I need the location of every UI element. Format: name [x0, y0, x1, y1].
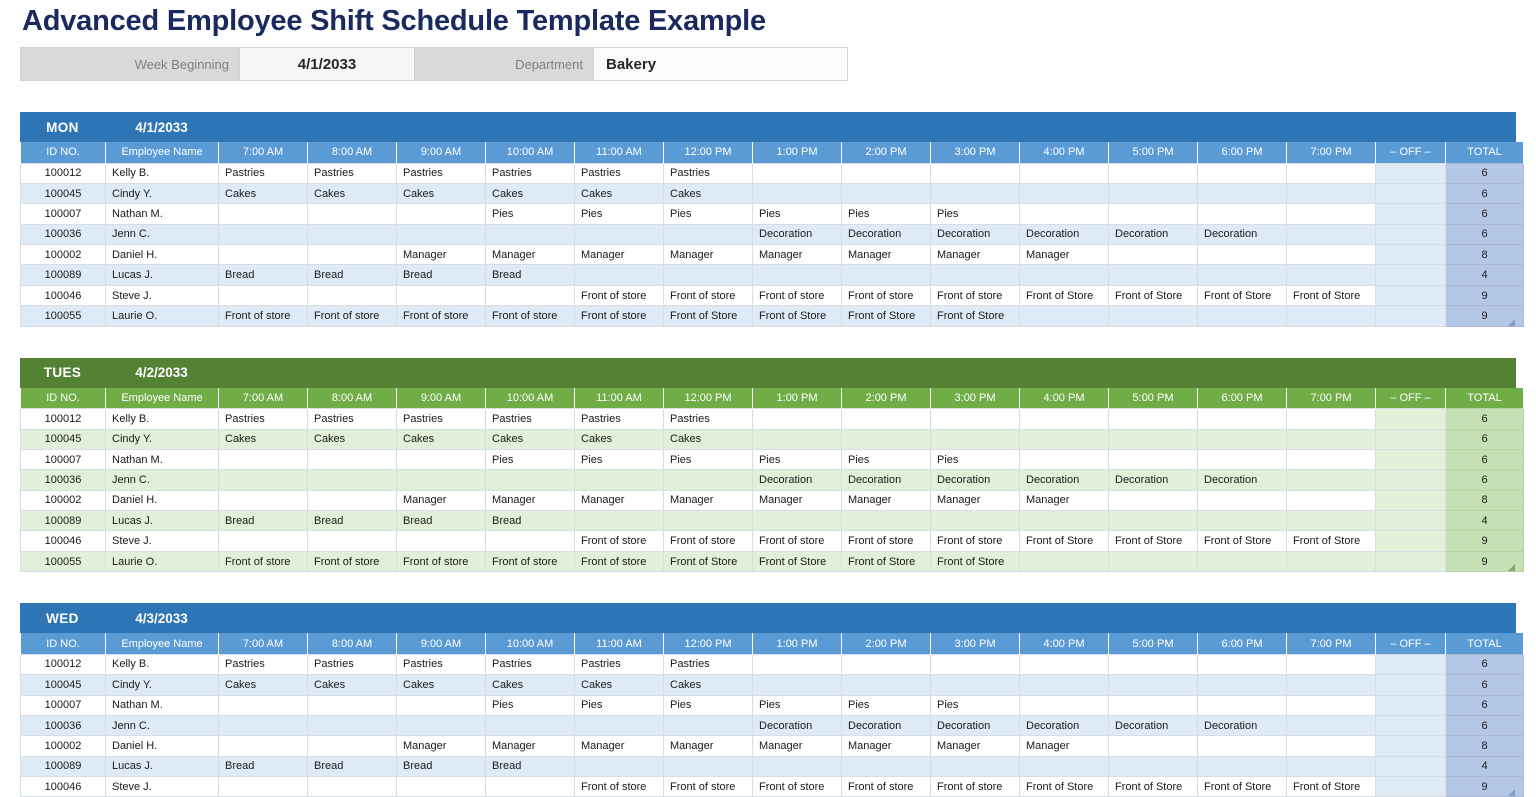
column-header-5[interactable]: 10:00 AM	[486, 388, 575, 409]
cell-shift[interactable]	[1109, 163, 1198, 183]
cell-off[interactable]	[1376, 736, 1446, 756]
column-header-8[interactable]: 1:00 PM	[753, 142, 842, 163]
cell-off[interactable]	[1376, 265, 1446, 285]
cell-shift[interactable]: Manager	[1020, 736, 1109, 756]
column-header-16[interactable]: TOTAL	[1446, 142, 1524, 163]
cell-employee-id[interactable]: 100036	[21, 224, 106, 244]
cell-shift[interactable]: Manager	[664, 245, 753, 265]
cell-shift[interactable]: Pies	[842, 204, 931, 224]
column-header-13[interactable]: 6:00 PM	[1198, 633, 1287, 654]
cell-shift[interactable]: Decoration	[931, 715, 1020, 735]
cell-shift[interactable]: Bread	[486, 756, 575, 776]
cell-shift[interactable]: Pies	[575, 695, 664, 715]
cell-shift[interactable]	[753, 511, 842, 531]
cell-employee-id[interactable]: 100045	[21, 675, 106, 695]
cell-shift[interactable]	[753, 183, 842, 203]
cell-shift[interactable]	[308, 695, 397, 715]
cell-off[interactable]	[1376, 224, 1446, 244]
cell-shift[interactable]	[664, 715, 753, 735]
cell-shift[interactable]: Cakes	[575, 429, 664, 449]
cell-shift[interactable]	[931, 756, 1020, 776]
column-header-5[interactable]: 10:00 AM	[486, 633, 575, 654]
cell-shift[interactable]: Front of Store	[1198, 777, 1287, 797]
week-beginning-value[interactable]: 4/1/2033	[239, 48, 415, 80]
column-header-7[interactable]: 12:00 PM	[664, 633, 753, 654]
cell-shift[interactable]: Pastries	[575, 409, 664, 429]
cell-shift[interactable]: Decoration	[1198, 224, 1287, 244]
cell-shift[interactable]	[842, 183, 931, 203]
cell-shift[interactable]: Cakes	[664, 675, 753, 695]
cell-shift[interactable]	[219, 449, 308, 469]
cell-shift[interactable]: Pies	[664, 204, 753, 224]
cell-shift[interactable]: Front of Store	[842, 306, 931, 326]
cell-shift[interactable]: Front of Store	[664, 551, 753, 571]
cell-shift[interactable]	[753, 756, 842, 776]
column-header-16[interactable]: TOTAL	[1446, 633, 1524, 654]
cell-shift[interactable]	[308, 224, 397, 244]
cell-shift[interactable]	[1109, 675, 1198, 695]
cell-off[interactable]	[1376, 756, 1446, 776]
cell-shift[interactable]	[1198, 204, 1287, 224]
cell-shift[interactable]	[1287, 511, 1376, 531]
column-header-11[interactable]: 4:00 PM	[1020, 633, 1109, 654]
cell-shift[interactable]: Cakes	[308, 429, 397, 449]
cell-shift[interactable]	[1287, 695, 1376, 715]
cell-employee-name[interactable]: Lucas J.	[106, 265, 219, 285]
cell-employee-id[interactable]: 100046	[21, 531, 106, 551]
cell-shift[interactable]: Front of Store	[931, 551, 1020, 571]
cell-shift[interactable]	[1109, 695, 1198, 715]
column-header-2[interactable]: 7:00 AM	[219, 388, 308, 409]
cell-shift[interactable]: Cakes	[219, 675, 308, 695]
department-value[interactable]: Bakery	[593, 48, 847, 80]
cell-shift[interactable]: Front of Store	[753, 551, 842, 571]
cell-shift[interactable]: Front of store	[753, 777, 842, 797]
cell-shift[interactable]	[1198, 265, 1287, 285]
cell-shift[interactable]: Pies	[842, 449, 931, 469]
cell-shift[interactable]: Decoration	[1020, 224, 1109, 244]
cell-shift[interactable]	[575, 265, 664, 285]
column-header-4[interactable]: 9:00 AM	[397, 142, 486, 163]
column-header-3[interactable]: 8:00 AM	[308, 388, 397, 409]
cell-shift[interactable]: Manager	[842, 490, 931, 510]
cell-shift[interactable]	[931, 429, 1020, 449]
cell-shift[interactable]: Manager	[575, 245, 664, 265]
cell-off[interactable]	[1376, 449, 1446, 469]
cell-shift[interactable]	[1287, 715, 1376, 735]
cell-shift[interactable]: Bread	[397, 511, 486, 531]
cell-shift[interactable]	[486, 715, 575, 735]
cell-shift[interactable]: Pies	[486, 449, 575, 469]
cell-employee-name[interactable]: Jenn C.	[106, 470, 219, 490]
cell-employee-name[interactable]: Kelly B.	[106, 163, 219, 183]
cell-shift[interactable]: Decoration	[842, 715, 931, 735]
cell-shift[interactable]	[1287, 449, 1376, 469]
cell-shift[interactable]: Bread	[308, 265, 397, 285]
resize-handle-icon[interactable]	[1506, 317, 1515, 326]
cell-employee-id[interactable]: 100002	[21, 736, 106, 756]
cell-shift[interactable]	[1287, 736, 1376, 756]
cell-shift[interactable]	[219, 490, 308, 510]
column-header-14[interactable]: 7:00 PM	[1287, 388, 1376, 409]
cell-shift[interactable]: Front of Store	[1020, 531, 1109, 551]
cell-employee-id[interactable]: 100007	[21, 695, 106, 715]
cell-shift[interactable]	[1198, 654, 1287, 674]
cell-shift[interactable]: Front of Store	[842, 551, 931, 571]
cell-employee-id[interactable]: 100002	[21, 490, 106, 510]
cell-shift[interactable]: Manager	[397, 490, 486, 510]
cell-shift[interactable]: Manager	[397, 245, 486, 265]
cell-shift[interactable]: Front of store	[931, 531, 1020, 551]
cell-shift[interactable]	[753, 163, 842, 183]
cell-shift[interactable]	[397, 470, 486, 490]
cell-shift[interactable]	[753, 429, 842, 449]
cell-shift[interactable]	[575, 715, 664, 735]
cell-shift[interactable]: Manager	[842, 736, 931, 756]
column-header-12[interactable]: 5:00 PM	[1109, 388, 1198, 409]
cell-shift[interactable]: Pies	[931, 204, 1020, 224]
cell-shift[interactable]	[1287, 551, 1376, 571]
cell-shift[interactable]: Manager	[486, 736, 575, 756]
cell-shift[interactable]	[1198, 736, 1287, 756]
cell-shift[interactable]	[219, 204, 308, 224]
cell-shift[interactable]	[1109, 449, 1198, 469]
cell-shift[interactable]: Decoration	[842, 470, 931, 490]
cell-employee-id[interactable]: 100045	[21, 429, 106, 449]
column-header-10[interactable]: 3:00 PM	[931, 388, 1020, 409]
cell-shift[interactable]	[931, 654, 1020, 674]
cell-shift[interactable]	[219, 285, 308, 305]
cell-shift[interactable]: Pastries	[397, 409, 486, 429]
cell-shift[interactable]: Front of store	[842, 531, 931, 551]
cell-shift[interactable]	[1287, 409, 1376, 429]
cell-shift[interactable]: Cakes	[308, 675, 397, 695]
cell-shift[interactable]: Manager	[753, 245, 842, 265]
column-header-9[interactable]: 2:00 PM	[842, 633, 931, 654]
cell-shift[interactable]	[397, 285, 486, 305]
cell-shift[interactable]: Front of Store	[1198, 285, 1287, 305]
cell-shift[interactable]	[1020, 654, 1109, 674]
cell-shift[interactable]	[931, 409, 1020, 429]
cell-off[interactable]	[1376, 531, 1446, 551]
cell-shift[interactable]	[1287, 163, 1376, 183]
cell-employee-id[interactable]: 100046	[21, 777, 106, 797]
column-header-15[interactable]: – OFF –	[1376, 142, 1446, 163]
cell-employee-name[interactable]: Cindy Y.	[106, 675, 219, 695]
cell-shift[interactable]	[219, 531, 308, 551]
column-header-8[interactable]: 1:00 PM	[753, 633, 842, 654]
cell-shift[interactable]: Front of Store	[931, 306, 1020, 326]
cell-shift[interactable]	[575, 756, 664, 776]
cell-shift[interactable]	[842, 654, 931, 674]
cell-shift[interactable]	[1198, 551, 1287, 571]
column-header-12[interactable]: 5:00 PM	[1109, 142, 1198, 163]
column-header-6[interactable]: 11:00 AM	[575, 388, 664, 409]
cell-shift[interactable]	[1020, 449, 1109, 469]
cell-shift[interactable]	[1198, 163, 1287, 183]
cell-employee-id[interactable]: 100089	[21, 265, 106, 285]
cell-shift[interactable]: Pastries	[219, 163, 308, 183]
cell-shift[interactable]: Cakes	[397, 429, 486, 449]
cell-shift[interactable]	[1109, 551, 1198, 571]
cell-employee-id[interactable]: 100036	[21, 470, 106, 490]
cell-employee-name[interactable]: Daniel H.	[106, 736, 219, 756]
cell-shift[interactable]	[664, 470, 753, 490]
cell-shift[interactable]	[1109, 654, 1198, 674]
cell-shift[interactable]	[1198, 245, 1287, 265]
column-header-7[interactable]: 12:00 PM	[664, 388, 753, 409]
cell-employee-id[interactable]: 100002	[21, 245, 106, 265]
cell-shift[interactable]: Cakes	[486, 429, 575, 449]
cell-shift[interactable]: Front of store	[219, 306, 308, 326]
cell-shift[interactable]: Front of store	[575, 551, 664, 571]
cell-shift[interactable]: Cakes	[575, 675, 664, 695]
cell-off[interactable]	[1376, 245, 1446, 265]
cell-employee-name[interactable]: Nathan M.	[106, 204, 219, 224]
cell-shift[interactable]	[931, 163, 1020, 183]
cell-shift[interactable]	[1020, 511, 1109, 531]
cell-shift[interactable]: Front of store	[486, 551, 575, 571]
cell-shift[interactable]: Manager	[931, 245, 1020, 265]
cell-shift[interactable]: Front of store	[753, 285, 842, 305]
column-header-0[interactable]: ID NO.	[21, 388, 106, 409]
cell-shift[interactable]: Front of store	[842, 777, 931, 797]
cell-employee-name[interactable]: Kelly B.	[106, 409, 219, 429]
cell-shift[interactable]: Front of store	[575, 777, 664, 797]
cell-shift[interactable]	[1020, 204, 1109, 224]
cell-shift[interactable]: Decoration	[842, 224, 931, 244]
cell-shift[interactable]	[486, 224, 575, 244]
cell-shift[interactable]	[575, 224, 664, 244]
cell-employee-id[interactable]: 100007	[21, 449, 106, 469]
column-header-13[interactable]: 6:00 PM	[1198, 142, 1287, 163]
cell-off[interactable]	[1376, 551, 1446, 571]
cell-shift[interactable]: Front of Store	[664, 306, 753, 326]
column-header-1[interactable]: Employee Name	[106, 633, 219, 654]
cell-shift[interactable]: Front of store	[397, 306, 486, 326]
cell-shift[interactable]: Cakes	[486, 183, 575, 203]
cell-shift[interactable]	[308, 490, 397, 510]
column-header-3[interactable]: 8:00 AM	[308, 142, 397, 163]
cell-shift[interactable]	[308, 777, 397, 797]
cell-off[interactable]	[1376, 306, 1446, 326]
cell-off[interactable]	[1376, 429, 1446, 449]
cell-shift[interactable]: Bread	[486, 265, 575, 285]
cell-employee-id[interactable]: 100012	[21, 163, 106, 183]
cell-shift[interactable]: Decoration	[753, 470, 842, 490]
cell-shift[interactable]: Front of Store	[1287, 777, 1376, 797]
cell-employee-name[interactable]: Daniel H.	[106, 490, 219, 510]
cell-shift[interactable]	[1287, 470, 1376, 490]
cell-shift[interactable]: Pies	[575, 449, 664, 469]
column-header-14[interactable]: 7:00 PM	[1287, 142, 1376, 163]
cell-off[interactable]	[1376, 409, 1446, 429]
cell-employee-name[interactable]: Kelly B.	[106, 654, 219, 674]
cell-shift[interactable]	[1020, 695, 1109, 715]
cell-shift[interactable]	[575, 470, 664, 490]
cell-shift[interactable]	[308, 245, 397, 265]
cell-shift[interactable]	[931, 675, 1020, 695]
cell-shift[interactable]: Bread	[219, 511, 308, 531]
cell-shift[interactable]	[753, 654, 842, 674]
cell-off[interactable]	[1376, 695, 1446, 715]
cell-shift[interactable]: Cakes	[219, 429, 308, 449]
column-header-0[interactable]: ID NO.	[21, 142, 106, 163]
cell-shift[interactable]	[1287, 756, 1376, 776]
cell-shift[interactable]	[1109, 756, 1198, 776]
cell-shift[interactable]: Front of Store	[1287, 285, 1376, 305]
cell-shift[interactable]: Front of store	[575, 285, 664, 305]
cell-shift[interactable]: Decoration	[1198, 715, 1287, 735]
cell-shift[interactable]: Pastries	[664, 654, 753, 674]
cell-shift[interactable]: Pastries	[219, 654, 308, 674]
column-header-1[interactable]: Employee Name	[106, 142, 219, 163]
resize-handle-icon[interactable]	[1506, 787, 1515, 796]
cell-shift[interactable]: Manager	[931, 490, 1020, 510]
cell-shift[interactable]	[842, 675, 931, 695]
cell-shift[interactable]: Cakes	[486, 675, 575, 695]
cell-shift[interactable]: Manager	[931, 736, 1020, 756]
cell-shift[interactable]: Pastries	[575, 163, 664, 183]
cell-shift[interactable]: Front of store	[486, 306, 575, 326]
cell-shift[interactable]	[308, 715, 397, 735]
cell-shift[interactable]: Pies	[842, 695, 931, 715]
cell-shift[interactable]: Decoration	[931, 470, 1020, 490]
cell-shift[interactable]	[308, 204, 397, 224]
cell-shift[interactable]: Front of store	[842, 285, 931, 305]
cell-shift[interactable]	[931, 511, 1020, 531]
column-header-10[interactable]: 3:00 PM	[931, 142, 1020, 163]
cell-shift[interactable]	[308, 449, 397, 469]
cell-employee-id[interactable]: 100012	[21, 654, 106, 674]
cell-employee-name[interactable]: Steve J.	[106, 285, 219, 305]
cell-shift[interactable]	[1109, 306, 1198, 326]
column-header-5[interactable]: 10:00 AM	[486, 142, 575, 163]
cell-employee-name[interactable]: Lucas J.	[106, 756, 219, 776]
cell-shift[interactable]	[842, 511, 931, 531]
cell-shift[interactable]	[1198, 183, 1287, 203]
cell-shift[interactable]: Manager	[753, 490, 842, 510]
cell-shift[interactable]: Pastries	[664, 409, 753, 429]
cell-shift[interactable]	[1109, 429, 1198, 449]
cell-shift[interactable]: Bread	[486, 511, 575, 531]
column-header-11[interactable]: 4:00 PM	[1020, 142, 1109, 163]
cell-shift[interactable]	[1020, 429, 1109, 449]
cell-shift[interactable]	[1198, 429, 1287, 449]
cell-shift[interactable]: Cakes	[308, 183, 397, 203]
cell-shift[interactable]	[1287, 245, 1376, 265]
cell-off[interactable]	[1376, 675, 1446, 695]
cell-shift[interactable]: Manager	[397, 736, 486, 756]
cell-employee-id[interactable]: 100055	[21, 306, 106, 326]
cell-employee-name[interactable]: Nathan M.	[106, 449, 219, 469]
cell-shift[interactable]: Decoration	[753, 715, 842, 735]
cell-employee-id[interactable]: 100012	[21, 409, 106, 429]
cell-shift[interactable]: Bread	[219, 265, 308, 285]
cell-shift[interactable]	[842, 756, 931, 776]
cell-shift[interactable]: Bread	[219, 756, 308, 776]
cell-shift[interactable]	[1287, 224, 1376, 244]
cell-shift[interactable]: Cakes	[664, 429, 753, 449]
cell-shift[interactable]	[1109, 736, 1198, 756]
cell-shift[interactable]: Pies	[664, 695, 753, 715]
column-header-4[interactable]: 9:00 AM	[397, 633, 486, 654]
cell-shift[interactable]	[1020, 163, 1109, 183]
column-header-4[interactable]: 9:00 AM	[397, 388, 486, 409]
cell-employee-id[interactable]: 100089	[21, 511, 106, 531]
cell-off[interactable]	[1376, 470, 1446, 490]
column-header-0[interactable]: ID NO.	[21, 633, 106, 654]
column-header-9[interactable]: 2:00 PM	[842, 142, 931, 163]
column-header-11[interactable]: 4:00 PM	[1020, 388, 1109, 409]
cell-shift[interactable]	[308, 285, 397, 305]
cell-shift[interactable]	[397, 715, 486, 735]
cell-shift[interactable]: Manager	[664, 490, 753, 510]
cell-shift[interactable]	[219, 695, 308, 715]
cell-shift[interactable]	[664, 756, 753, 776]
cell-shift[interactable]	[219, 224, 308, 244]
cell-shift[interactable]	[1198, 306, 1287, 326]
cell-shift[interactable]: Manager	[1020, 490, 1109, 510]
cell-shift[interactable]	[1109, 204, 1198, 224]
cell-shift[interactable]: Pies	[931, 695, 1020, 715]
cell-off[interactable]	[1376, 777, 1446, 797]
cell-employee-id[interactable]: 100046	[21, 285, 106, 305]
cell-shift[interactable]	[1198, 409, 1287, 429]
cell-shift[interactable]	[397, 531, 486, 551]
cell-shift[interactable]: Front of store	[219, 551, 308, 571]
cell-shift[interactable]: Front of store	[575, 306, 664, 326]
cell-shift[interactable]: Manager	[486, 490, 575, 510]
cell-shift[interactable]	[486, 531, 575, 551]
column-header-6[interactable]: 11:00 AM	[575, 633, 664, 654]
cell-shift[interactable]: Pies	[486, 695, 575, 715]
cell-shift[interactable]: Pastries	[219, 409, 308, 429]
cell-shift[interactable]	[753, 675, 842, 695]
column-header-15[interactable]: – OFF –	[1376, 388, 1446, 409]
column-header-2[interactable]: 7:00 AM	[219, 142, 308, 163]
cell-shift[interactable]: Front of store	[308, 551, 397, 571]
cell-shift[interactable]	[1020, 306, 1109, 326]
column-header-7[interactable]: 12:00 PM	[664, 142, 753, 163]
cell-off[interactable]	[1376, 511, 1446, 531]
cell-shift[interactable]: Front of store	[664, 777, 753, 797]
cell-shift[interactable]: Decoration	[1198, 470, 1287, 490]
cell-shift[interactable]	[664, 224, 753, 244]
cell-shift[interactable]: Front of Store	[1198, 531, 1287, 551]
cell-shift[interactable]: Front of Store	[1287, 531, 1376, 551]
cell-employee-name[interactable]: Lucas J.	[106, 511, 219, 531]
cell-shift[interactable]	[219, 245, 308, 265]
cell-off[interactable]	[1376, 715, 1446, 735]
cell-employee-id[interactable]: 100045	[21, 183, 106, 203]
cell-shift[interactable]	[308, 736, 397, 756]
cell-shift[interactable]: Decoration	[1109, 224, 1198, 244]
cell-employee-id[interactable]: 100089	[21, 756, 106, 776]
cell-shift[interactable]	[1109, 511, 1198, 531]
resize-handle-icon[interactable]	[1506, 562, 1515, 571]
cell-shift[interactable]	[931, 183, 1020, 203]
cell-shift[interactable]	[1109, 265, 1198, 285]
column-header-1[interactable]: Employee Name	[106, 388, 219, 409]
cell-shift[interactable]: Front of store	[308, 306, 397, 326]
cell-shift[interactable]	[1287, 204, 1376, 224]
cell-shift[interactable]: Manager	[486, 245, 575, 265]
cell-shift[interactable]	[1198, 449, 1287, 469]
cell-shift[interactable]	[1198, 675, 1287, 695]
cell-shift[interactable]: Pastries	[664, 163, 753, 183]
cell-employee-name[interactable]: Nathan M.	[106, 695, 219, 715]
